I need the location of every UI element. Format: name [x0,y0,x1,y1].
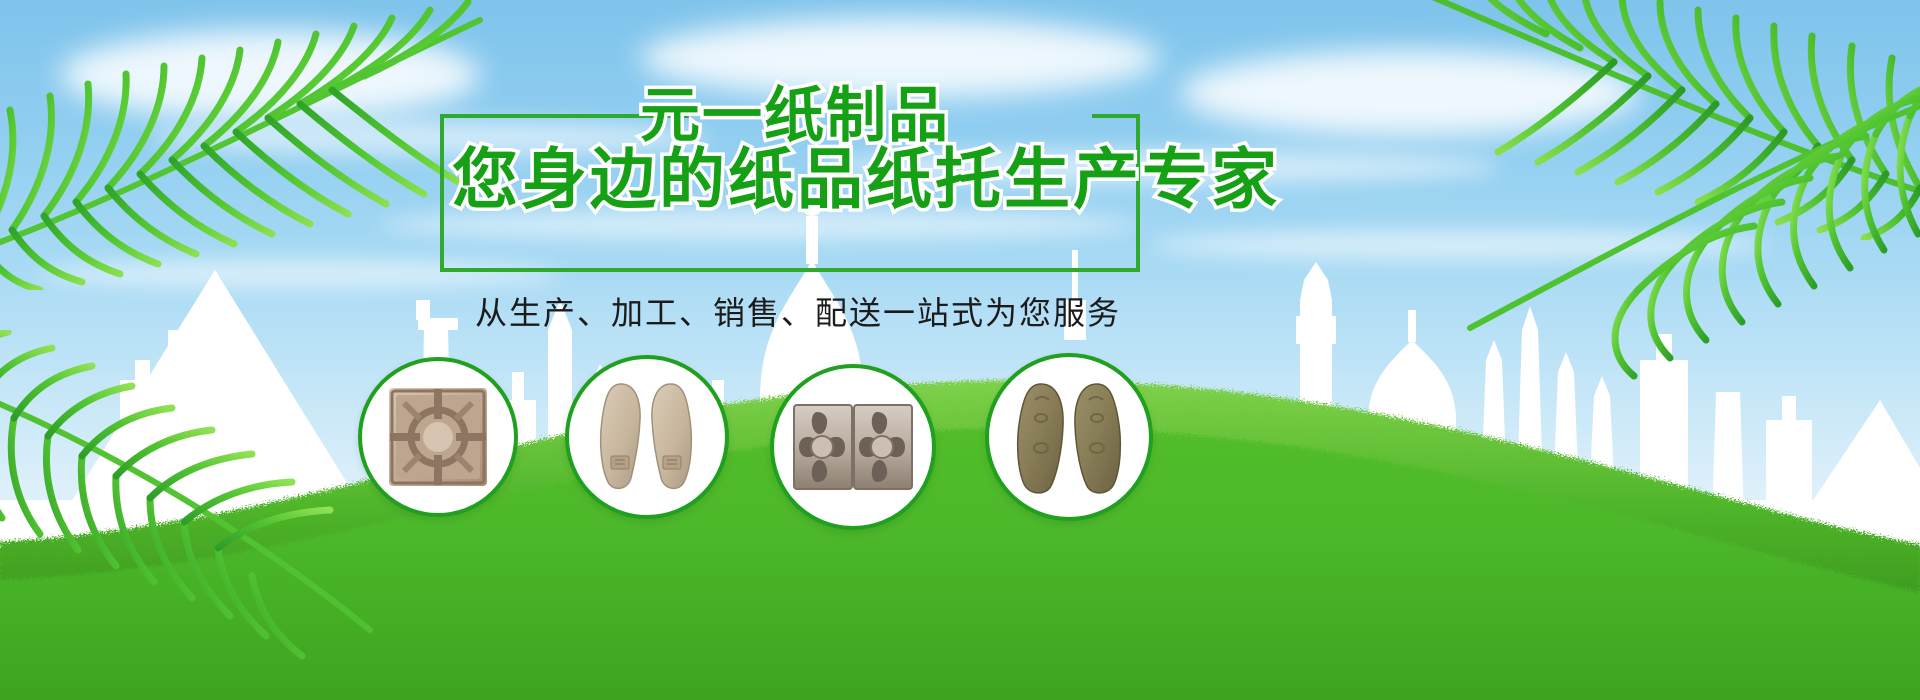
paper-pulp-insole-pair-icon [591,378,703,496]
product-circle-4[interactable] [985,353,1153,521]
promotional-banner: 元一纸制品 您身边的纸品纸托生产专家 从生产、加工、销售、配送一站式为您服务 [0,0,1920,700]
headline-block: 元一纸制品 您身边的纸品纸托生产专家 [440,92,1140,272]
product-circle-2[interactable] [565,355,729,519]
subtitle-text: 从生产、加工、销售、配送一站式为您服务 [468,288,1128,334]
frame-line-bottom [440,268,1140,272]
product-circle-3[interactable] [770,364,936,530]
palm-frond-icon [0,0,500,290]
headline-line-2: 您身边的纸品纸托生产专家 [452,142,1280,216]
paper-pulp-tray-square-icon [386,385,490,489]
headline-line-1: 元一纸制品 [640,84,950,148]
paper-pulp-shoe-tree-pair-icon [1011,378,1127,496]
paper-pulp-tray-double-icon [793,404,913,490]
palm-frond-icon [1460,60,1920,380]
palm-frond-icon [0,330,380,660]
product-circle-1[interactable] [358,357,518,517]
frame-line-top-right [1092,114,1140,118]
frame-line-left [440,114,444,272]
